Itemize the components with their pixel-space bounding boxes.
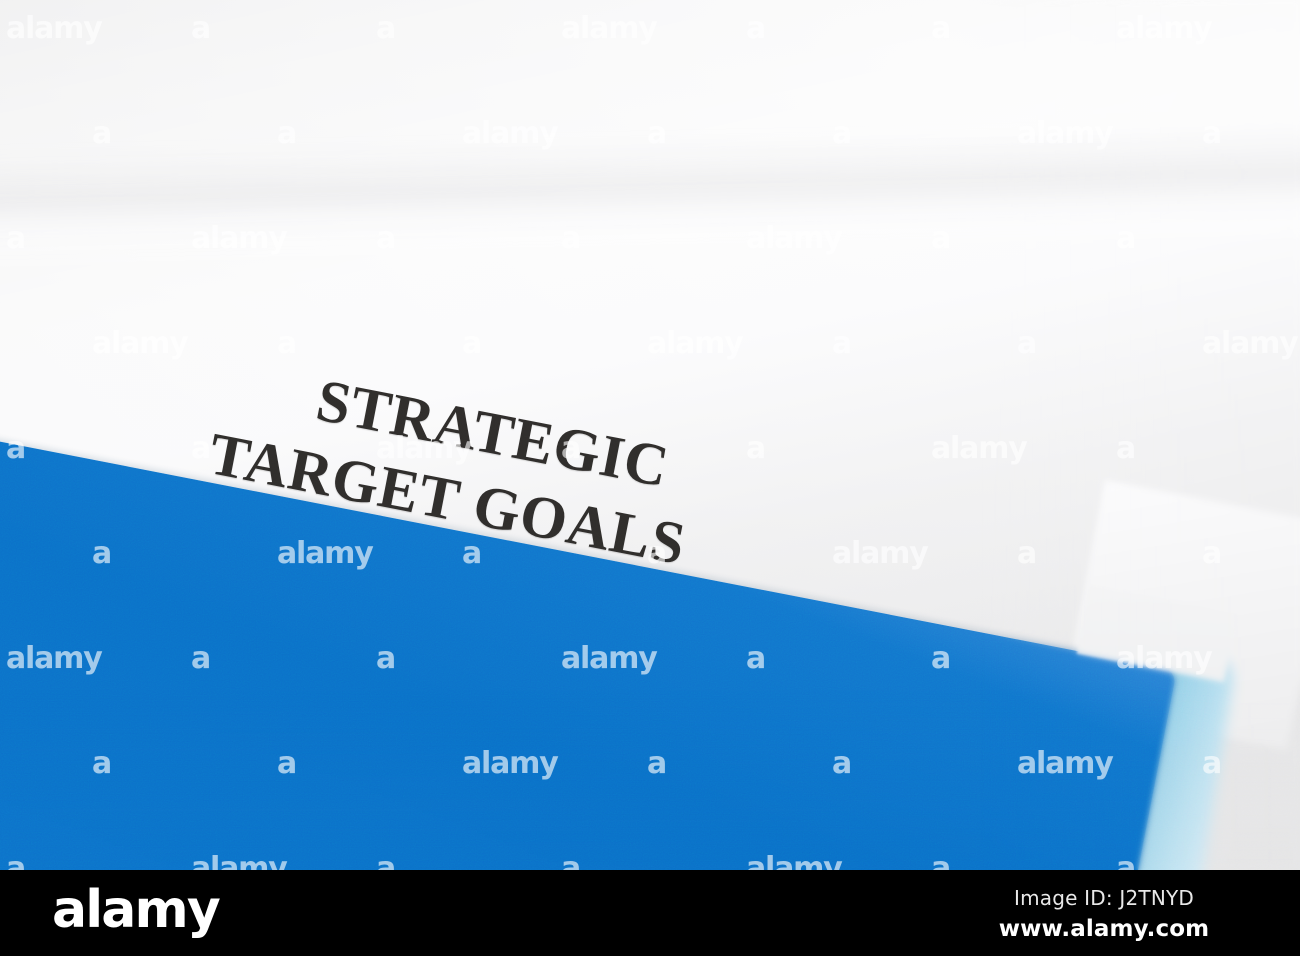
folder-back-leaf <box>1077 640 1236 870</box>
watermark-letter: a <box>6 224 26 254</box>
watermark-wordmark: alamy <box>647 329 743 359</box>
watermark-letter: a <box>92 119 112 149</box>
watermark-letter: a <box>931 644 951 674</box>
watermark-letter: a <box>832 329 852 359</box>
watermark-letter: a <box>931 854 951 870</box>
watermark-letter: a <box>931 224 951 254</box>
image-id-label: Image ID: J2TNYD <box>954 886 1254 910</box>
watermark-letter: a <box>1116 434 1136 464</box>
depth-of-field-right <box>980 0 1300 870</box>
watermark-letter: a <box>462 539 482 569</box>
watermark-wordmark: alamy <box>6 14 102 44</box>
watermark-letter: a <box>1202 749 1222 779</box>
watermark-wordmark: alamy <box>746 854 842 870</box>
watermark-letter: a <box>561 854 581 870</box>
watermark-wordmark: alamy <box>1116 14 1212 44</box>
watermark-letter: a <box>931 14 951 44</box>
watermark-letter: a <box>746 14 766 44</box>
watermark-wordmark: alamy <box>561 14 657 44</box>
watermark-letter: a <box>746 644 766 674</box>
watermark-letter: a <box>561 224 581 254</box>
watermark-wordmark: alamy <box>1116 644 1212 674</box>
watermark-wordmark: alamy <box>1202 329 1298 359</box>
document-headline: STRATEGIC TARGET GOALS <box>30 312 941 627</box>
alamy-logo[interactable]: alamy <box>52 884 219 936</box>
watermark-wordmark: alamy <box>1017 119 1113 149</box>
depth-of-field-bottom <box>0 690 1300 870</box>
folder-back-leaf-highlight <box>1131 615 1219 744</box>
watermark-letter: a <box>1202 119 1222 149</box>
watermark-letter: a <box>1116 224 1136 254</box>
footer-meta: Image ID: J2TNYD www.alamy.com <box>954 886 1254 942</box>
watermark-letter: a <box>1202 539 1222 569</box>
watermark-letter: a <box>6 854 26 870</box>
watermark-letter: a <box>832 749 852 779</box>
watermark-letter: a <box>1017 539 1037 569</box>
watermark-wordmark: alamy <box>931 434 1027 464</box>
watermark-wordmark: alamy <box>191 224 287 254</box>
watermark-wordmark: alamy <box>1017 749 1113 779</box>
website-url[interactable]: www.alamy.com <box>954 916 1254 942</box>
watermark-wordmark: alamy <box>462 119 558 149</box>
watermark-letter: a <box>376 854 396 870</box>
watermark-letter: a <box>376 644 396 674</box>
watermark-letter: a <box>376 14 396 44</box>
paper-corner-tip <box>1061 480 1300 750</box>
watermark-wordmark: alamy <box>6 644 102 674</box>
watermark-letter: a <box>191 14 211 44</box>
watermark-letter: a <box>376 224 396 254</box>
watermark-letter: a <box>647 119 667 149</box>
watermark-wordmark: alamy <box>561 644 657 674</box>
watermark-letter: a <box>277 119 297 149</box>
watermark-letter: a <box>191 644 211 674</box>
paper-top-edge <box>0 122 1300 277</box>
watermark-wordmark: alamy <box>462 749 558 779</box>
watermark-letter: a <box>832 119 852 149</box>
watermark-letter: a <box>92 749 112 779</box>
watermark-letter: a <box>277 749 297 779</box>
stock-photo: STRATEGIC TARGET GOALS alamyaaalamyaaala… <box>0 0 1300 870</box>
watermark-letter: a <box>1017 329 1037 359</box>
watermark-letter: a <box>647 749 667 779</box>
watermark-letter: a <box>462 329 482 359</box>
watermark-letter: a <box>92 539 112 569</box>
alamy-footer-bar: alamy Image ID: J2TNYD www.alamy.com <box>0 870 1300 956</box>
watermark-wordmark: alamy <box>746 224 842 254</box>
folder-tab-notch <box>1077 585 1238 682</box>
watermark-wordmark: alamy <box>277 539 373 569</box>
watermark-letter: a <box>1116 854 1136 870</box>
watermark-wordmark: alamy <box>191 854 287 870</box>
screenshot-root: STRATEGIC TARGET GOALS alamyaaalamyaaala… <box>0 0 1300 956</box>
